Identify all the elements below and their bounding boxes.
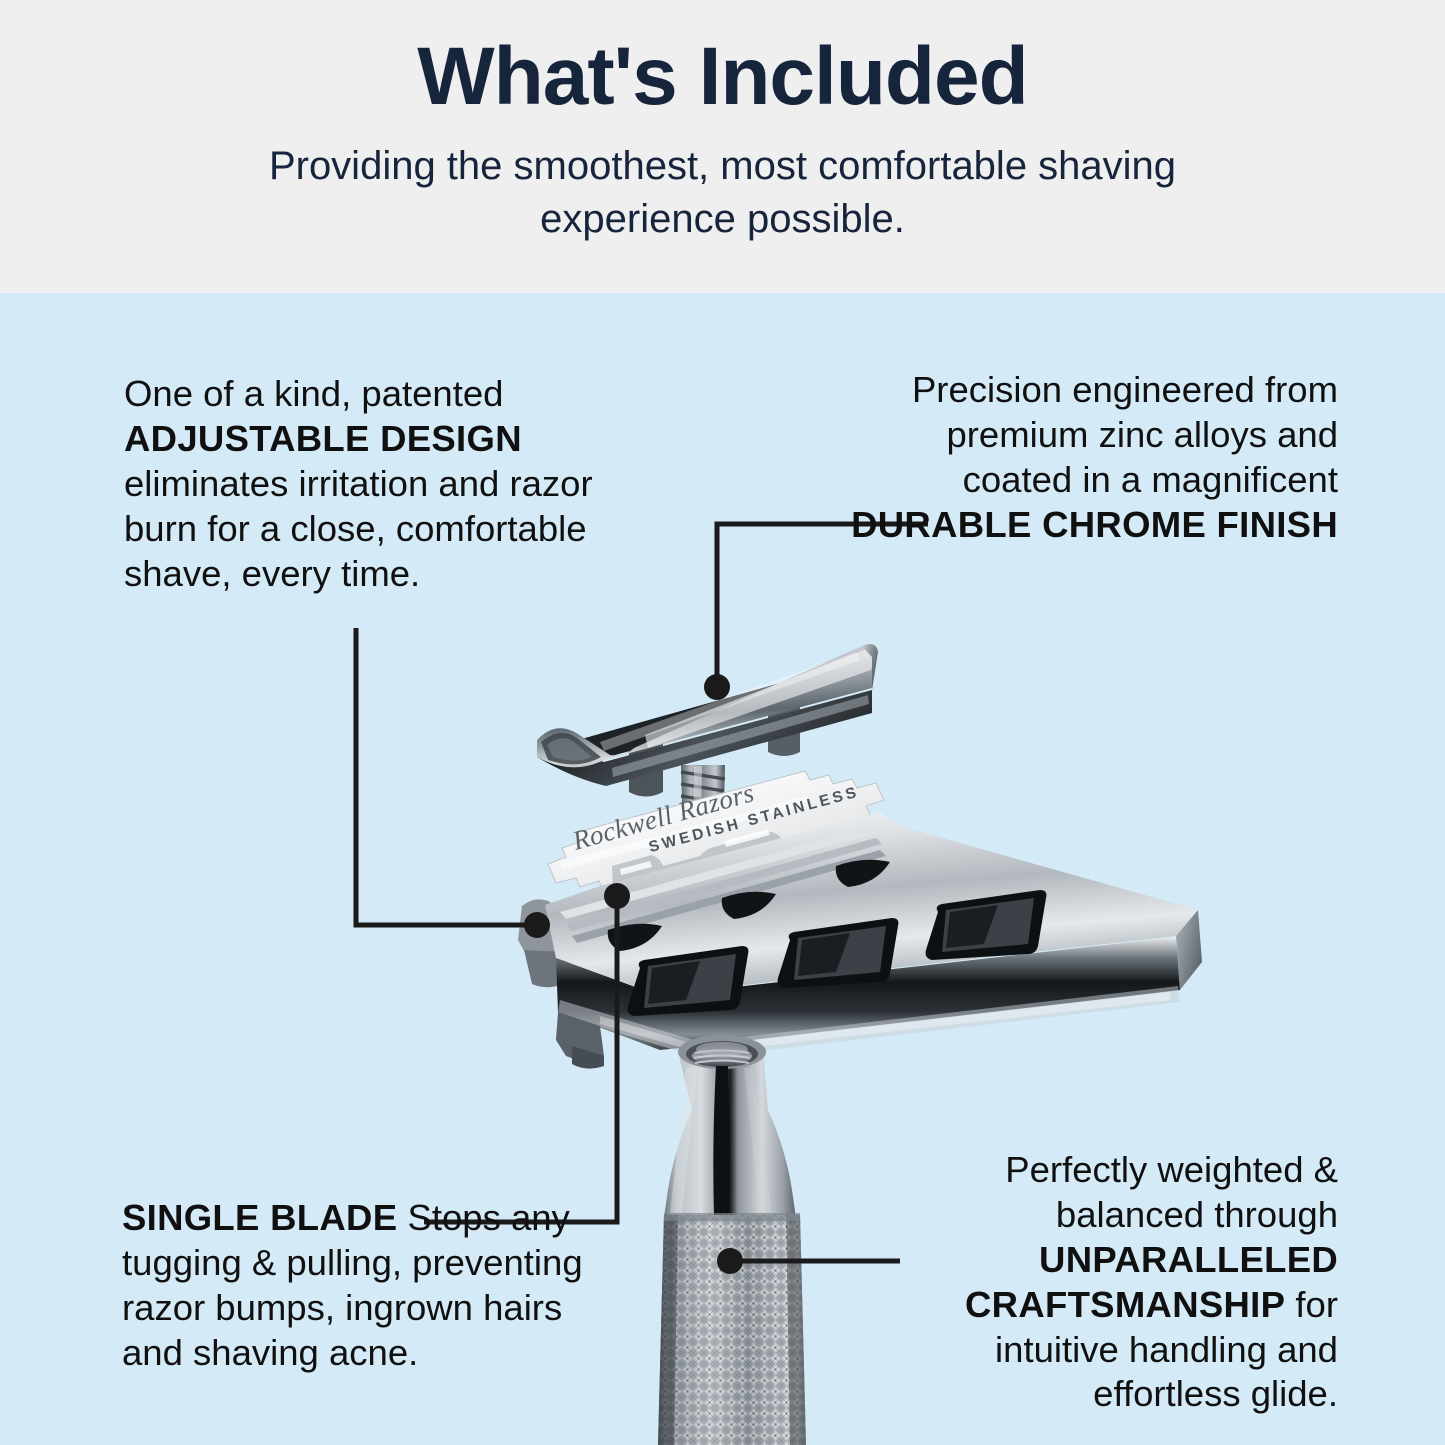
callout-craft-emphasis: UNPARALLELED CRAFTSMANSHIP xyxy=(965,1239,1338,1325)
callout-blade-emphasis: SINGLE BLADE xyxy=(122,1197,397,1238)
callout-craft-lead: Perfectly weighted & balanced through xyxy=(1005,1149,1338,1235)
callout-adjustable-trail: eliminates irritation and razor burn for… xyxy=(124,463,593,594)
callout-unparalleled-craftsmanship: Perfectly weighted & balanced through UN… xyxy=(908,1148,1338,1417)
callout-single-blade: SINGLE BLADE Stops any tugging & pulling… xyxy=(122,1196,622,1376)
callout-chrome-lead: Precision engineered from premium zinc a… xyxy=(912,369,1338,500)
callout-adjustable-design: One of a kind, patented ADJUSTABLE DESIG… xyxy=(124,372,604,596)
knurled-handle-shaft xyxy=(650,1210,820,1445)
infographic-canvas: What's Included Providing the smoothest,… xyxy=(0,0,1445,1445)
callout-durable-chrome-finish: Precision engineered from premium zinc a… xyxy=(838,368,1338,548)
callout-adjustable-lead: One of a kind, patented xyxy=(124,373,503,414)
razor-handle xyxy=(650,1035,820,1445)
callout-chrome-emphasis: DURABLE CHROME FINISH xyxy=(851,504,1338,545)
callout-adjustable-emphasis: ADJUSTABLE DESIGN xyxy=(124,418,522,459)
